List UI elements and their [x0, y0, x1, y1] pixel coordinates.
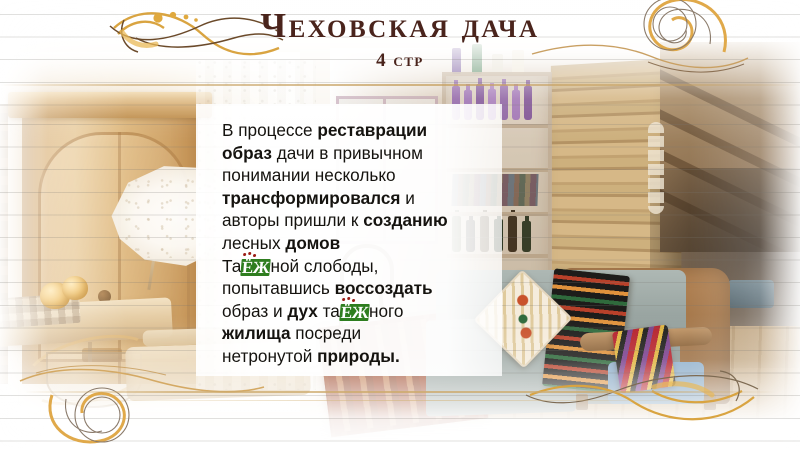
body-line: трансформировался и — [222, 187, 474, 210]
sofa-leg — [704, 394, 716, 410]
side-table — [728, 280, 774, 308]
bottle — [480, 216, 489, 252]
body-line: жилища посреди — [222, 322, 474, 345]
bottle — [452, 86, 460, 120]
body-text-regular: образ и — [222, 301, 287, 321]
body-text-regular: авторы пришли к — [222, 210, 363, 230]
body-text-bold: воссоздать — [335, 278, 433, 298]
body-text-regular: лесных — [222, 233, 285, 253]
body-text-bold: природы. — [317, 346, 400, 366]
body-paragraph: В процессе реставрацииобраз дачи в привы… — [222, 119, 474, 368]
slide-header: Чеховская дача 4 стр — [0, 8, 800, 72]
body-line: ТаЁЖной слободы, — [222, 255, 474, 278]
body-line: образ дачи в привычном — [222, 142, 474, 165]
body-text-regular: та — [318, 301, 340, 321]
red-patterned-pillow — [612, 324, 676, 393]
body-text-regular: нетронутой — [222, 346, 317, 366]
body-text-regular: и — [400, 188, 414, 208]
bottle — [488, 89, 496, 120]
ceiling-beam — [660, 60, 800, 156]
bottle — [476, 84, 484, 120]
body-text-regular: посреди — [291, 323, 362, 343]
sofa-leg — [576, 394, 588, 410]
body-text-bold: домов — [285, 233, 340, 253]
body-text-regular: дачи в привычном — [272, 143, 423, 163]
body-text-bold: жилища — [222, 323, 291, 343]
bottle — [522, 221, 531, 252]
yozh-logo-dots — [342, 298, 357, 304]
onion — [62, 276, 88, 300]
bottle — [500, 85, 508, 120]
body-text-bold: дух — [287, 301, 317, 321]
body-text-regular: В процессе — [222, 120, 317, 140]
page-number-label: 4 стр — [0, 50, 800, 72]
body-line: лесных домов — [222, 232, 474, 255]
body-text-bold: созданию — [363, 210, 447, 230]
yozh-logo-icon: ЁЖ — [339, 304, 370, 321]
body-line: понимании несколько — [222, 164, 474, 187]
slide-canvas: Чеховская дача 4 стр В процессе реставра… — [0, 0, 800, 449]
yozh-logo-icon: ЁЖ — [241, 259, 272, 276]
body-text-regular: ной слободы, — [270, 256, 378, 276]
body-text-bold: трансформировался — [222, 188, 400, 208]
bottle — [494, 219, 503, 252]
page-title: Чеховская дача — [0, 8, 800, 43]
yozh-logo-dots — [243, 253, 258, 259]
body-text-regular: ного — [369, 301, 404, 321]
body-line: нетронутой природы. — [222, 345, 474, 368]
body-line: В процессе реставрации — [222, 119, 474, 142]
bottle — [512, 90, 520, 120]
hanging-garland — [648, 122, 664, 214]
body-line: образ и дух таЁЖного — [222, 300, 474, 323]
bottle — [524, 86, 532, 120]
body-text-regular: попытавшись — [222, 278, 335, 298]
body-text-regular: Та — [222, 256, 241, 276]
body-text-bold: образ — [222, 143, 272, 163]
body-text-bold: реставрации — [317, 120, 427, 140]
body-text-regular: понимании несколько — [222, 165, 396, 185]
body-line: авторы пришли к созданию — [222, 209, 474, 232]
bottle — [508, 216, 517, 252]
bottle — [464, 90, 472, 120]
sofa — [430, 254, 730, 404]
